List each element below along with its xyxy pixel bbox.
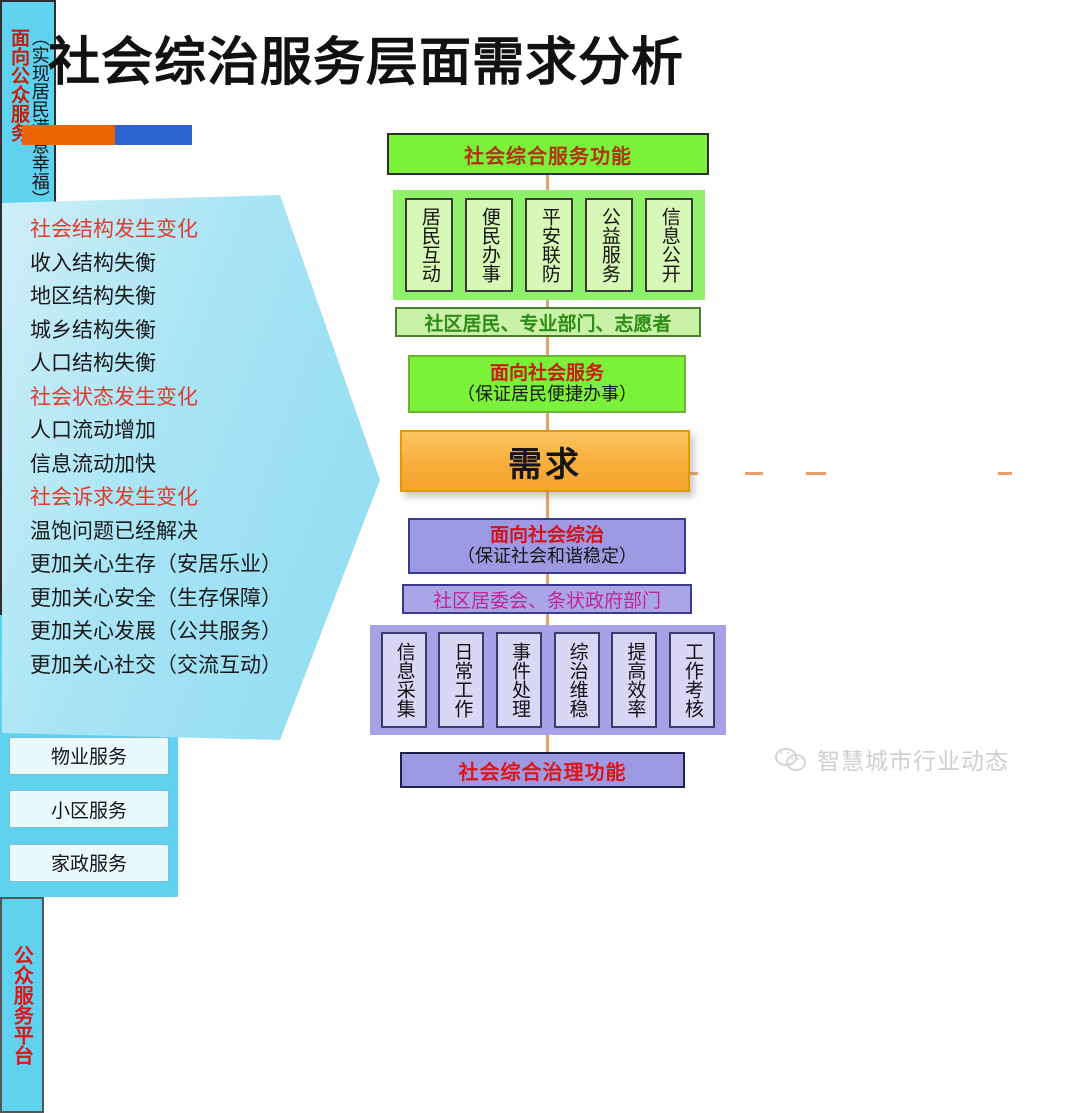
social-governance-function-footer[interactable]: 社会综合治理功能 xyxy=(400,752,685,788)
watermark-text: 智慧城市行业动态 xyxy=(817,742,1009,776)
accent-bar-blue-segment xyxy=(115,125,192,145)
oriented-social-governance-box[interactable]: 面向社会综治 （保证社会和谐稳定） xyxy=(408,518,686,574)
watermark: 智慧城市行业动态 xyxy=(775,742,1009,776)
governance-function-item[interactable]: 提高效率 xyxy=(611,632,657,728)
page-title: 社会综治服务层面需求分析 xyxy=(48,36,684,91)
left-panel-row: 社会诉求发生变化 xyxy=(30,481,360,515)
social-service-function-header[interactable]: 社会综合服务功能 xyxy=(387,133,709,175)
governance-function-item-label: 日常工作 xyxy=(452,642,472,718)
connector-services-to-platform xyxy=(998,472,1012,475)
service-function-items: 居民互动便民办事平安联防公益服务信息公开 xyxy=(393,190,705,300)
connector-main-to-need xyxy=(546,413,549,431)
left-panel-row: 信息流动加快 xyxy=(30,448,360,482)
left-panel-row: 更加关心安全（生存保障） xyxy=(30,582,360,616)
left-panel-row: 人口流动增加 xyxy=(30,414,360,448)
governance-function-item[interactable]: 综治维稳 xyxy=(554,632,600,728)
service-item[interactable]: 家政服务 xyxy=(9,844,169,882)
oriented-social-service-box[interactable]: 面向社会服务 （保证居民便捷办事） xyxy=(408,355,686,413)
left-panel-list: 社会结构发生变化收入结构失衡地区结构失衡城乡结构失衡人口结构失衡社会状态发生变化… xyxy=(30,213,360,682)
governance-function-item[interactable]: 工作考核 xyxy=(669,632,715,728)
oriented-social-governance-sub: （保证社会和谐稳定） xyxy=(457,546,637,568)
left-panel-row: 社会结构发生变化 xyxy=(30,213,360,247)
connector-items-to-footer xyxy=(546,735,549,753)
governance-function-item[interactable]: 日常工作 xyxy=(438,632,484,728)
public-service-platform-box[interactable]: 公众服务平台 xyxy=(0,897,44,1113)
service-actors-band[interactable]: 社区居民、专业部门、志愿者 xyxy=(395,307,701,337)
oriented-social-service-title: 面向社会服务 xyxy=(490,363,604,384)
service-function-item-label: 居民互动 xyxy=(419,207,439,283)
governance-function-item-label: 提高效率 xyxy=(625,642,645,718)
governance-function-items: 信息采集日常工作事件处理综治维稳提高效率工作考核 xyxy=(370,625,726,735)
left-panel-row: 更加关心社交（交流互动） xyxy=(30,649,360,683)
connector-need-to-purple xyxy=(546,492,549,519)
oriented-social-service-sub: （保证居民便捷办事） xyxy=(457,384,637,406)
connector-head-to-items xyxy=(546,175,549,191)
left-panel-row: 更加关心发展（公共服务） xyxy=(30,615,360,649)
left-panel-row: 地区结构失衡 xyxy=(30,280,360,314)
governance-function-item-label: 工作考核 xyxy=(682,642,702,718)
slide-canvas: 社会综治服务层面需求分析 社会结构发生变化收入结构失衡地区结构失衡城乡结构失衡人… xyxy=(0,0,1080,810)
public-service-platform-label: 公众服务平台 xyxy=(12,945,33,1065)
service-function-item[interactable]: 便民办事 xyxy=(465,198,513,292)
service-function-item[interactable]: 居民互动 xyxy=(405,198,453,292)
accent-bar-orange-segment xyxy=(22,125,115,145)
need-box[interactable]: 需求 xyxy=(400,430,690,492)
service-function-item-label: 平安联防 xyxy=(539,207,559,283)
connector-actors-to-main xyxy=(546,337,549,356)
left-panel-row: 收入结构失衡 xyxy=(30,247,360,281)
governance-function-item-label: 综治维稳 xyxy=(567,642,587,718)
wechat-icon xyxy=(775,746,807,772)
left-panel-row: 社会状态发生变化 xyxy=(30,381,360,415)
service-function-item[interactable]: 信息公开 xyxy=(645,198,693,292)
service-item[interactable]: 物业服务 xyxy=(9,737,169,775)
governance-function-item[interactable]: 事件处理 xyxy=(496,632,542,728)
service-function-item[interactable]: 公益服务 xyxy=(585,198,633,292)
service-function-item-label: 便民办事 xyxy=(479,207,499,283)
public-service-sub: （实现居民满意幸福） xyxy=(29,28,48,208)
connector-resources-to-services xyxy=(806,472,826,475)
service-function-item-label: 公益服务 xyxy=(599,207,619,283)
left-panel-row: 人口结构失衡 xyxy=(30,347,360,381)
left-panel-row: 更加关心生存（安居乐业） xyxy=(30,548,360,582)
governance-function-item-label: 信息采集 xyxy=(394,642,414,718)
accent-bar xyxy=(22,125,192,145)
governance-actors-band[interactable]: 社区居委会、条状政府部门 xyxy=(402,584,692,614)
service-item[interactable]: 小区服务 xyxy=(9,790,169,828)
governance-function-item-label: 事件处理 xyxy=(509,642,529,718)
public-service-title: 面向公众服务 xyxy=(8,28,28,208)
connector-public-to-resources xyxy=(745,472,763,475)
left-panel-row: 温饱问题已经解决 xyxy=(30,515,360,549)
service-function-item-label: 信息公开 xyxy=(659,207,679,283)
governance-function-item[interactable]: 信息采集 xyxy=(381,632,427,728)
left-panel-row: 城乡结构失衡 xyxy=(30,314,360,348)
service-function-item[interactable]: 平安联防 xyxy=(525,198,573,292)
oriented-social-governance-title: 面向社会综治 xyxy=(490,525,604,546)
